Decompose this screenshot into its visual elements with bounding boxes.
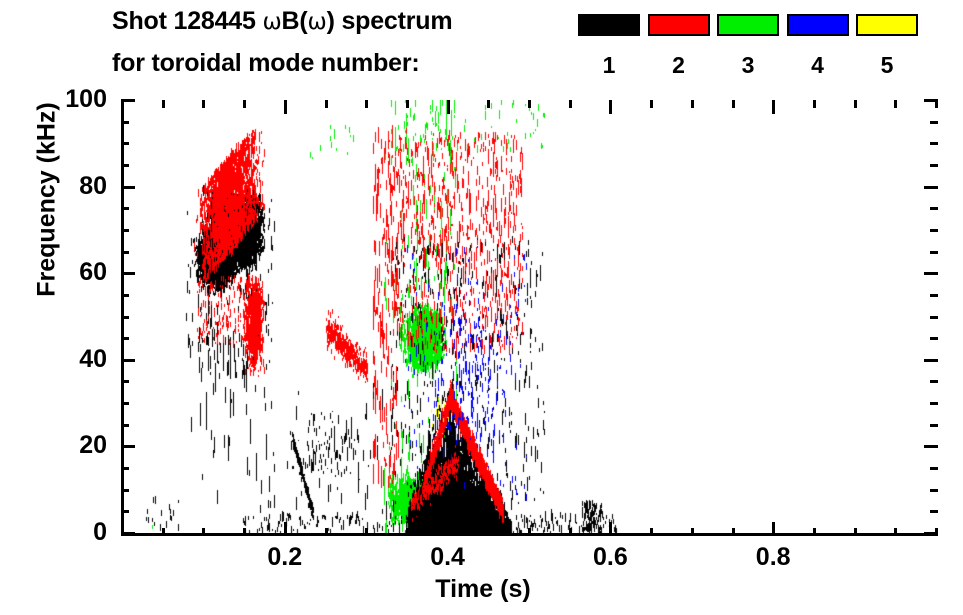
x-tick-minor [650, 528, 653, 536]
y-tick-right-minor [930, 316, 938, 319]
x-tick-minor [243, 528, 246, 536]
y-tick-right-minor [930, 402, 938, 405]
y-tick-right-minor [930, 294, 938, 297]
spectrogram-canvas [121, 100, 935, 533]
y-tick-minor [121, 316, 129, 319]
y-tick-minor [121, 142, 129, 145]
y-tick-minor [121, 489, 129, 492]
y-tick-label-0: 0 [47, 520, 107, 545]
y-tick-minor [121, 402, 129, 405]
legend-label-n2: 2 [645, 52, 713, 78]
x-tick-minor [487, 528, 490, 536]
x-tick-label-0.8: 0.8 [728, 545, 818, 570]
x-tick-major [609, 522, 612, 536]
legend-swatch-n1 [578, 14, 640, 36]
x-tick-minor [202, 528, 205, 536]
y-tick-minor [121, 294, 129, 297]
y-tick-right-minor [930, 510, 938, 513]
y-tick-right-major [924, 186, 938, 189]
x-tick-minor [162, 528, 165, 536]
omega-symbol-1: ω [262, 9, 281, 35]
y-tick-right-major [924, 272, 938, 275]
y-tick-major [121, 359, 135, 362]
x-tick-major [447, 522, 450, 536]
x-tick-major [284, 522, 287, 536]
y-tick-right-minor [930, 142, 938, 145]
x-tick-top-minor [162, 100, 165, 108]
x-tick-top-major [609, 100, 612, 114]
x-tick-minor [325, 528, 328, 536]
x-tick-label-0.4: 0.4 [403, 545, 493, 570]
x-tick-top-minor [325, 100, 328, 108]
y-tick-right-minor [930, 229, 938, 232]
x-tick-minor [813, 528, 816, 536]
y-tick-right-minor [930, 337, 938, 340]
y-tick-major [121, 99, 135, 102]
y-tick-minor [121, 510, 129, 513]
x-tick-top-minor [528, 100, 531, 108]
y-tick-label-20: 20 [47, 433, 107, 458]
y-tick-right-major [924, 359, 938, 362]
x-tick-minor [569, 528, 572, 536]
x-tick-label-0.6: 0.6 [565, 545, 655, 570]
figure-title-line-2: for toroidal mode number: [112, 49, 420, 78]
y-tick-minor [121, 229, 129, 232]
x-tick-minor [406, 528, 409, 536]
y-tick-minor [121, 337, 129, 340]
legend-swatch-n5 [856, 14, 918, 36]
y-tick-right-major [924, 532, 938, 535]
x-tick-minor [894, 528, 897, 536]
y-tick-right-major [924, 99, 938, 102]
x-tick-top-minor [243, 100, 246, 108]
x-tick-major [772, 522, 775, 536]
legend-label-n5: 5 [853, 52, 921, 78]
x-tick-minor [732, 528, 735, 536]
spectrogram-figure: Shot 128445 ωB(ω) spectrum for toroidal … [0, 0, 963, 615]
x-tick-minor [365, 528, 368, 536]
legend-swatch-n4 [787, 14, 849, 36]
omega-symbol-2: ω [308, 9, 327, 35]
y-tick-minor [121, 380, 129, 383]
y-tick-right-major [924, 445, 938, 448]
x-tick-top-minor [691, 100, 694, 108]
y-tick-right-minor [930, 380, 938, 383]
y-tick-label-40: 40 [47, 347, 107, 372]
legend-swatch-n2 [648, 14, 710, 36]
x-tick-top-minor [854, 100, 857, 108]
legend-swatch-n3 [717, 14, 779, 36]
x-tick-minor [854, 528, 857, 536]
legend-label-n1: 1 [575, 52, 643, 78]
y-axis-label: Frequency (kHz) [33, 70, 62, 330]
y-tick-right-minor [930, 251, 938, 254]
x-axis-label: Time (s) [338, 575, 628, 604]
x-tick-top-minor [650, 100, 653, 108]
x-tick-label-0.2: 0.2 [240, 545, 330, 570]
x-tick-top-minor [487, 100, 490, 108]
y-tick-right-minor [930, 467, 938, 470]
x-tick-top-minor [569, 100, 572, 108]
legend: 12345 [575, 0, 963, 96]
y-tick-minor [121, 424, 129, 427]
x-tick-top-minor [406, 100, 409, 108]
x-tick-top-major [447, 100, 450, 114]
x-tick-top-major [284, 100, 287, 114]
y-tick-minor [121, 251, 129, 254]
legend-item-n4[interactable]: 4 [784, 0, 854, 96]
y-tick-major [121, 272, 135, 275]
legend-item-n5[interactable]: 5 [853, 0, 923, 96]
y-tick-right-minor [930, 489, 938, 492]
x-tick-minor [528, 528, 531, 536]
y-tick-right-minor [930, 207, 938, 210]
y-tick-minor [121, 121, 129, 124]
title-spectrum-text: ) spectrum [327, 7, 453, 35]
title-b-text: B( [282, 7, 308, 35]
x-tick-top-minor [813, 100, 816, 108]
title-shot-text: Shot 128445 [112, 7, 262, 35]
x-tick-top-minor [365, 100, 368, 108]
legend-item-n3[interactable]: 3 [714, 0, 784, 96]
figure-title-line-1: Shot 128445 ωB(ω) spectrum [112, 7, 452, 36]
y-tick-right-minor [930, 121, 938, 124]
x-tick-top-minor [202, 100, 205, 108]
legend-item-n1[interactable]: 1 [575, 0, 645, 96]
x-tick-top-minor [894, 100, 897, 108]
spectrogram-canvas-holder [121, 100, 935, 533]
legend-label-n3: 3 [714, 52, 782, 78]
x-tick-top-major [772, 100, 775, 114]
x-tick-minor [691, 528, 694, 536]
figure-header: Shot 128445 ωB(ω) spectrum for toroidal … [0, 0, 963, 96]
y-tick-minor [121, 164, 129, 167]
y-tick-major [121, 445, 135, 448]
y-tick-right-minor [930, 164, 938, 167]
x-tick-top-minor [732, 100, 735, 108]
y-tick-minor [121, 467, 129, 470]
y-tick-minor [121, 207, 129, 210]
y-tick-major [121, 532, 135, 535]
legend-item-n2[interactable]: 2 [645, 0, 715, 96]
y-tick-right-minor [930, 424, 938, 427]
legend-label-n4: 4 [784, 52, 852, 78]
y-tick-major [121, 186, 135, 189]
